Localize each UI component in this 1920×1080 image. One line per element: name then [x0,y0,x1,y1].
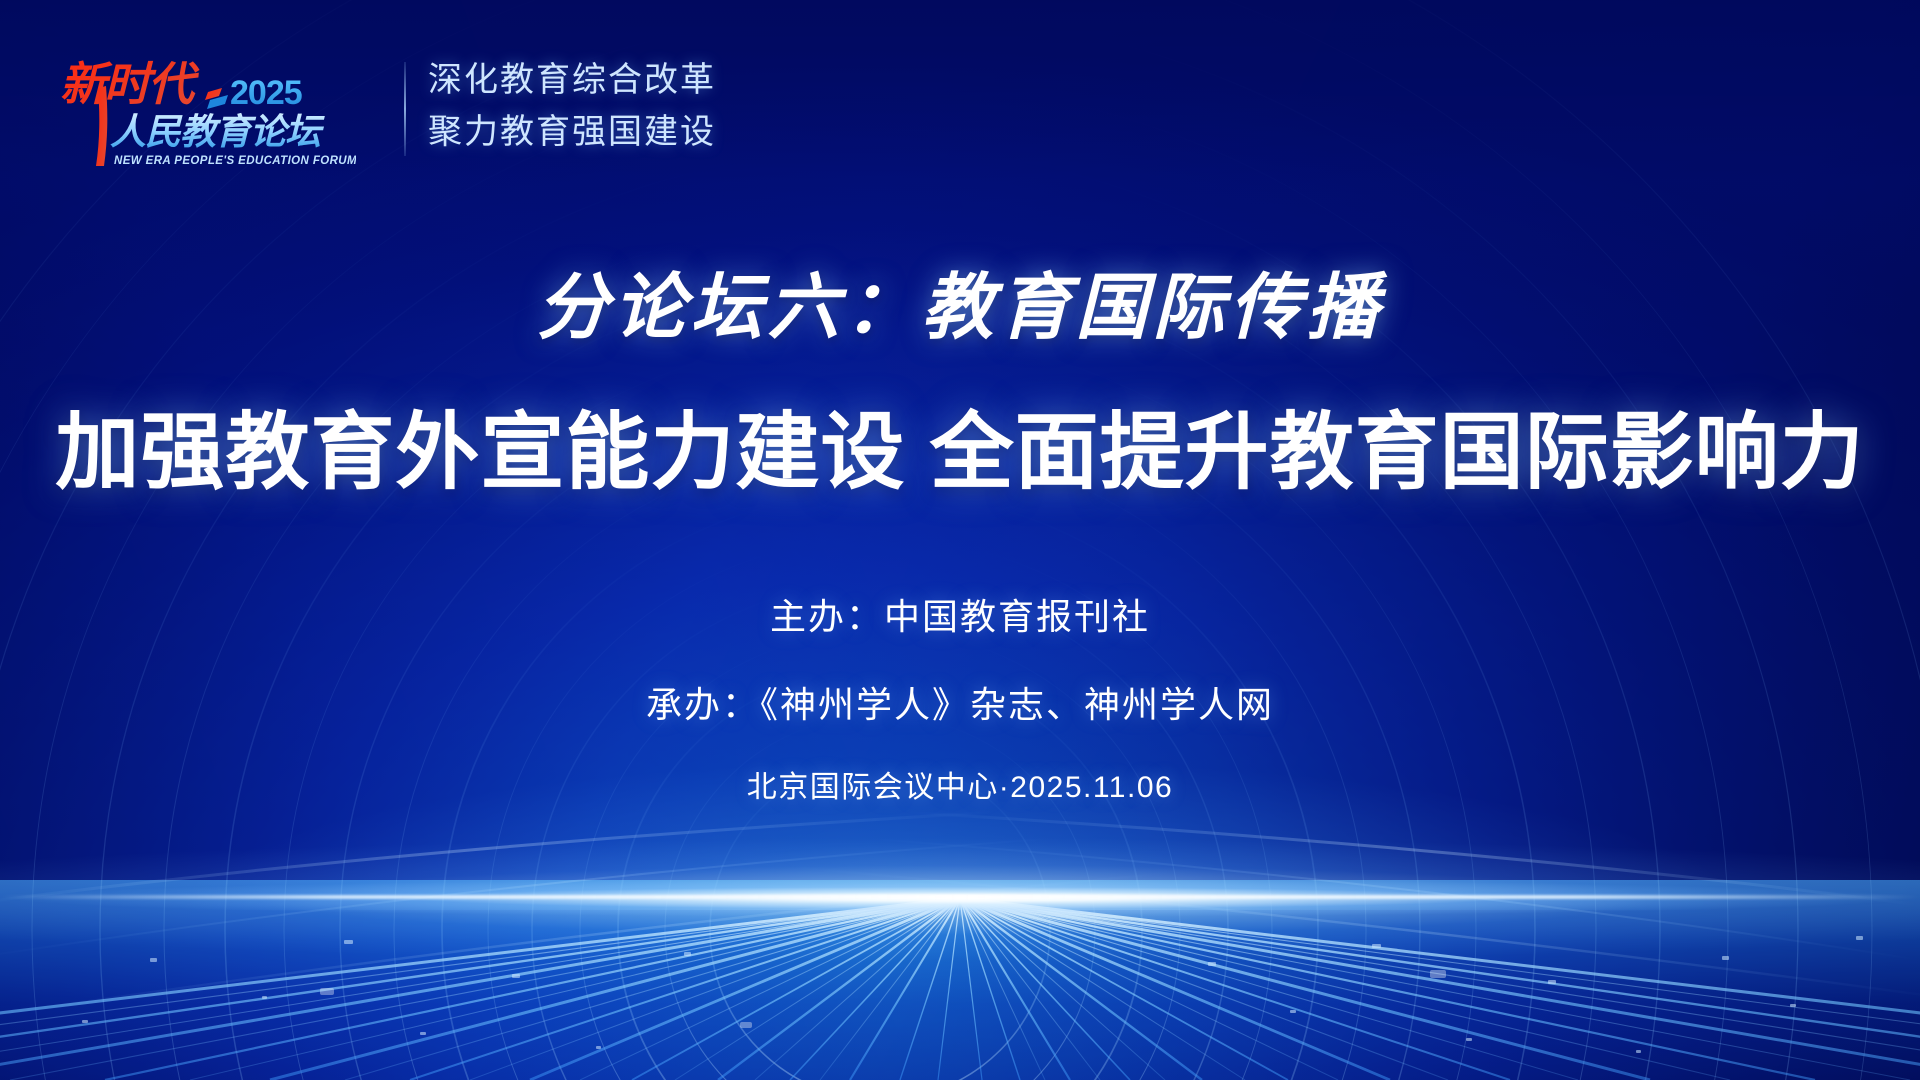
subforum-title: 分论坛六：教育国际传播 [0,248,1920,353]
logo-year-text: 2025 [230,74,302,112]
forum-logo-mark: 新时代 2025 人民教育论坛 NEW ERA PEOPLE'S EDUCATI… [56,44,341,170]
logo-english-text: NEW ERA PEOPLE'S EDUCATION FORUM [114,155,356,167]
forum-tagline: 深化教育综合改革 聚力教育强国建设 [428,54,716,158]
event-backdrop-poster: 新时代 2025 人民教育论坛 NEW ERA PEOPLE'S EDUCATI… [0,0,1920,1080]
organizer-line: 主办：中国教育报刊社 [0,588,1920,640]
logo-divider [404,62,406,156]
tagline-line-2: 聚力教育强国建设 [428,106,716,158]
co-organizer-line: 承办：《神州学人》杂志、神州学人网 [0,676,1920,728]
venue-date-line: 北京国际会议中心·2025.11.06 [0,762,1920,806]
tagline-line-1: 深化教育综合改革 [428,54,716,106]
page-title: 加强教育外宣能力建设 全面提升教育国际影响力 [0,385,1920,506]
logo-script-text: 新时代 [60,57,200,111]
logo-title-text: 人民教育论坛 [110,111,325,152]
forum-logo-block: 新时代 2025 人民教育论坛 NEW ERA PEOPLE'S EDUCATI… [56,44,696,174]
